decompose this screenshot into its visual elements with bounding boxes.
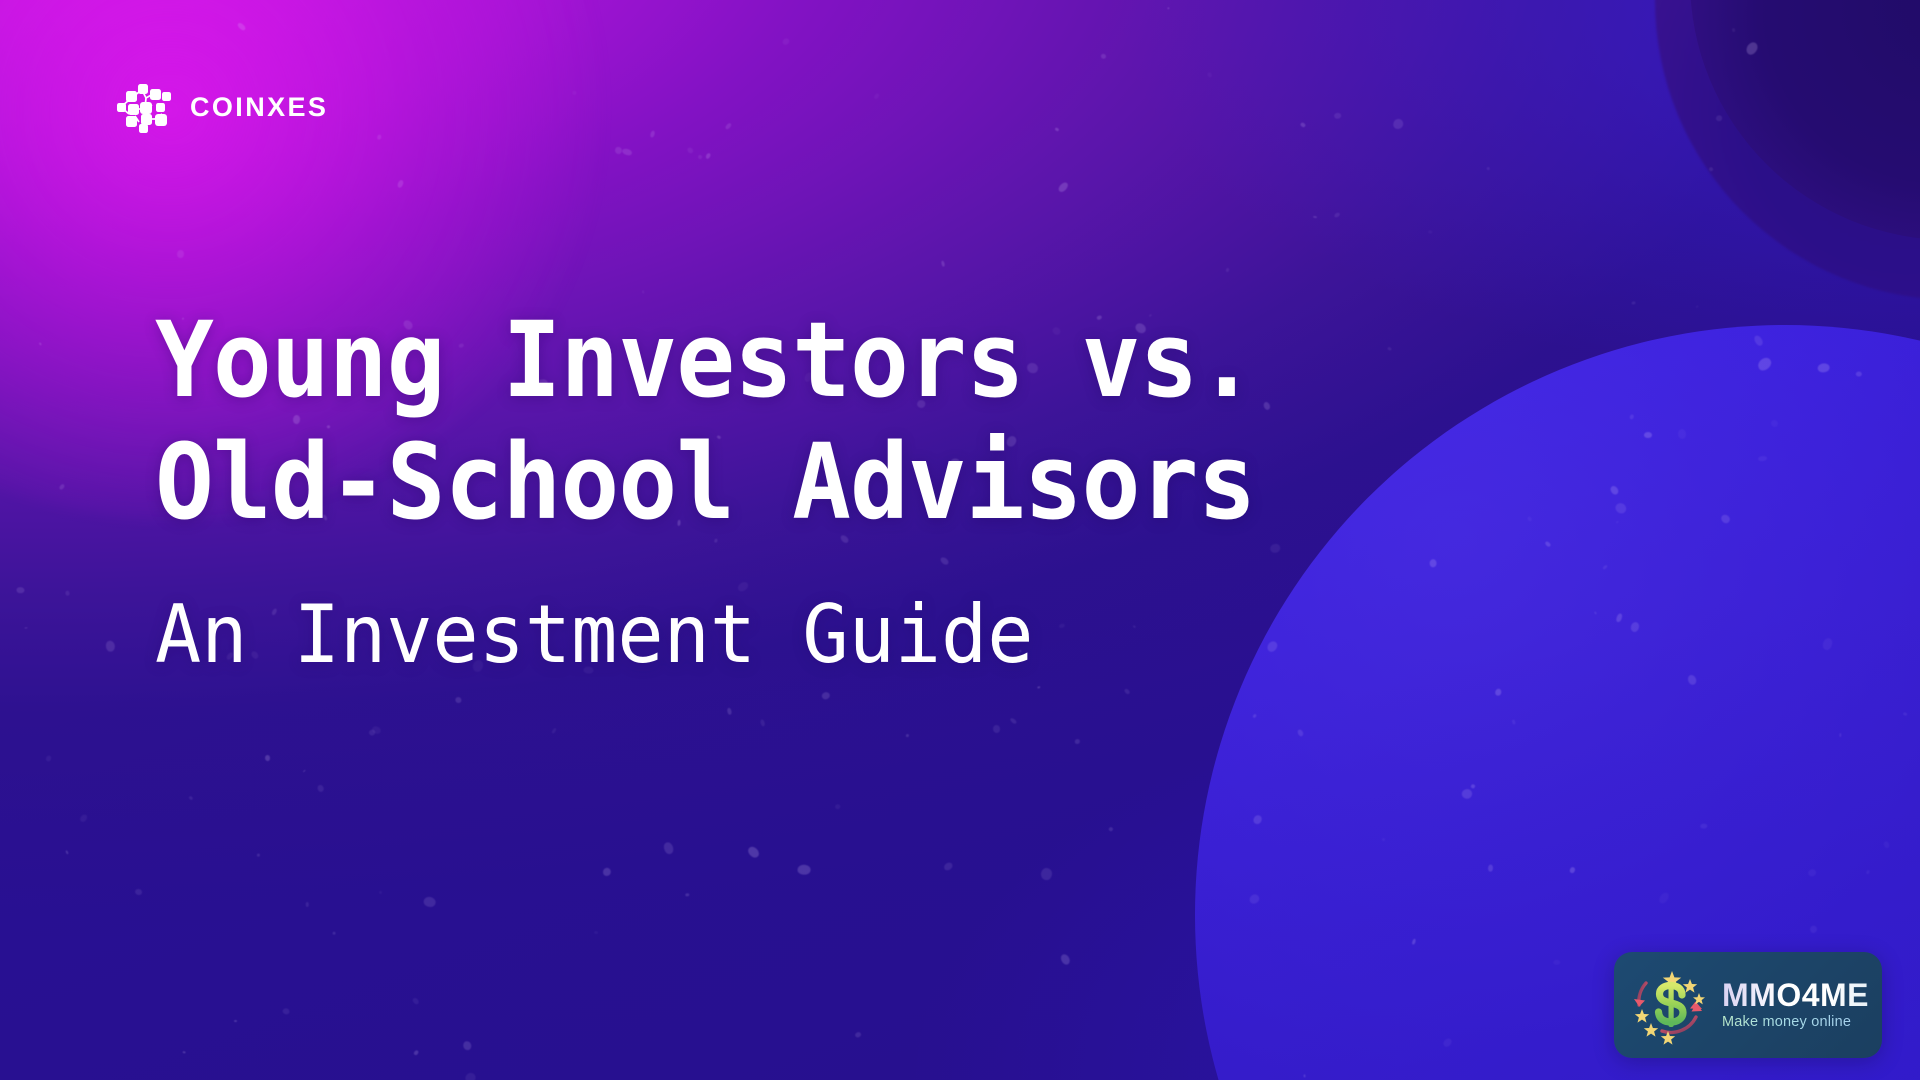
title-line-1: Young Investors vs. xyxy=(155,300,1283,422)
watermark-tagline: Make money online xyxy=(1722,1014,1869,1031)
watermark-title: MMO4ME xyxy=(1722,979,1869,1013)
dollar-sign-stars-icon xyxy=(1624,959,1720,1052)
hero-copy: Young Investors vs. Old-School Advisors … xyxy=(155,300,1355,679)
network-nodes-icon xyxy=(112,78,174,136)
brand-logo[interactable]: COINXES xyxy=(112,78,328,136)
page-subtitle: An Investment Guide xyxy=(155,591,1307,679)
mmo4me-watermark[interactable]: MMO4ME Make money online xyxy=(1614,952,1882,1058)
watermark-text: MMO4ME Make money online xyxy=(1722,979,1869,1031)
title-line-2: Old-School Advisors xyxy=(155,422,1283,544)
hero-banner: COINXES Young Investors vs. Old-School A… xyxy=(0,0,1920,1080)
page-title: Young Investors vs. Old-School Advisors xyxy=(155,300,1283,543)
brand-name: COINXES xyxy=(190,92,328,123)
